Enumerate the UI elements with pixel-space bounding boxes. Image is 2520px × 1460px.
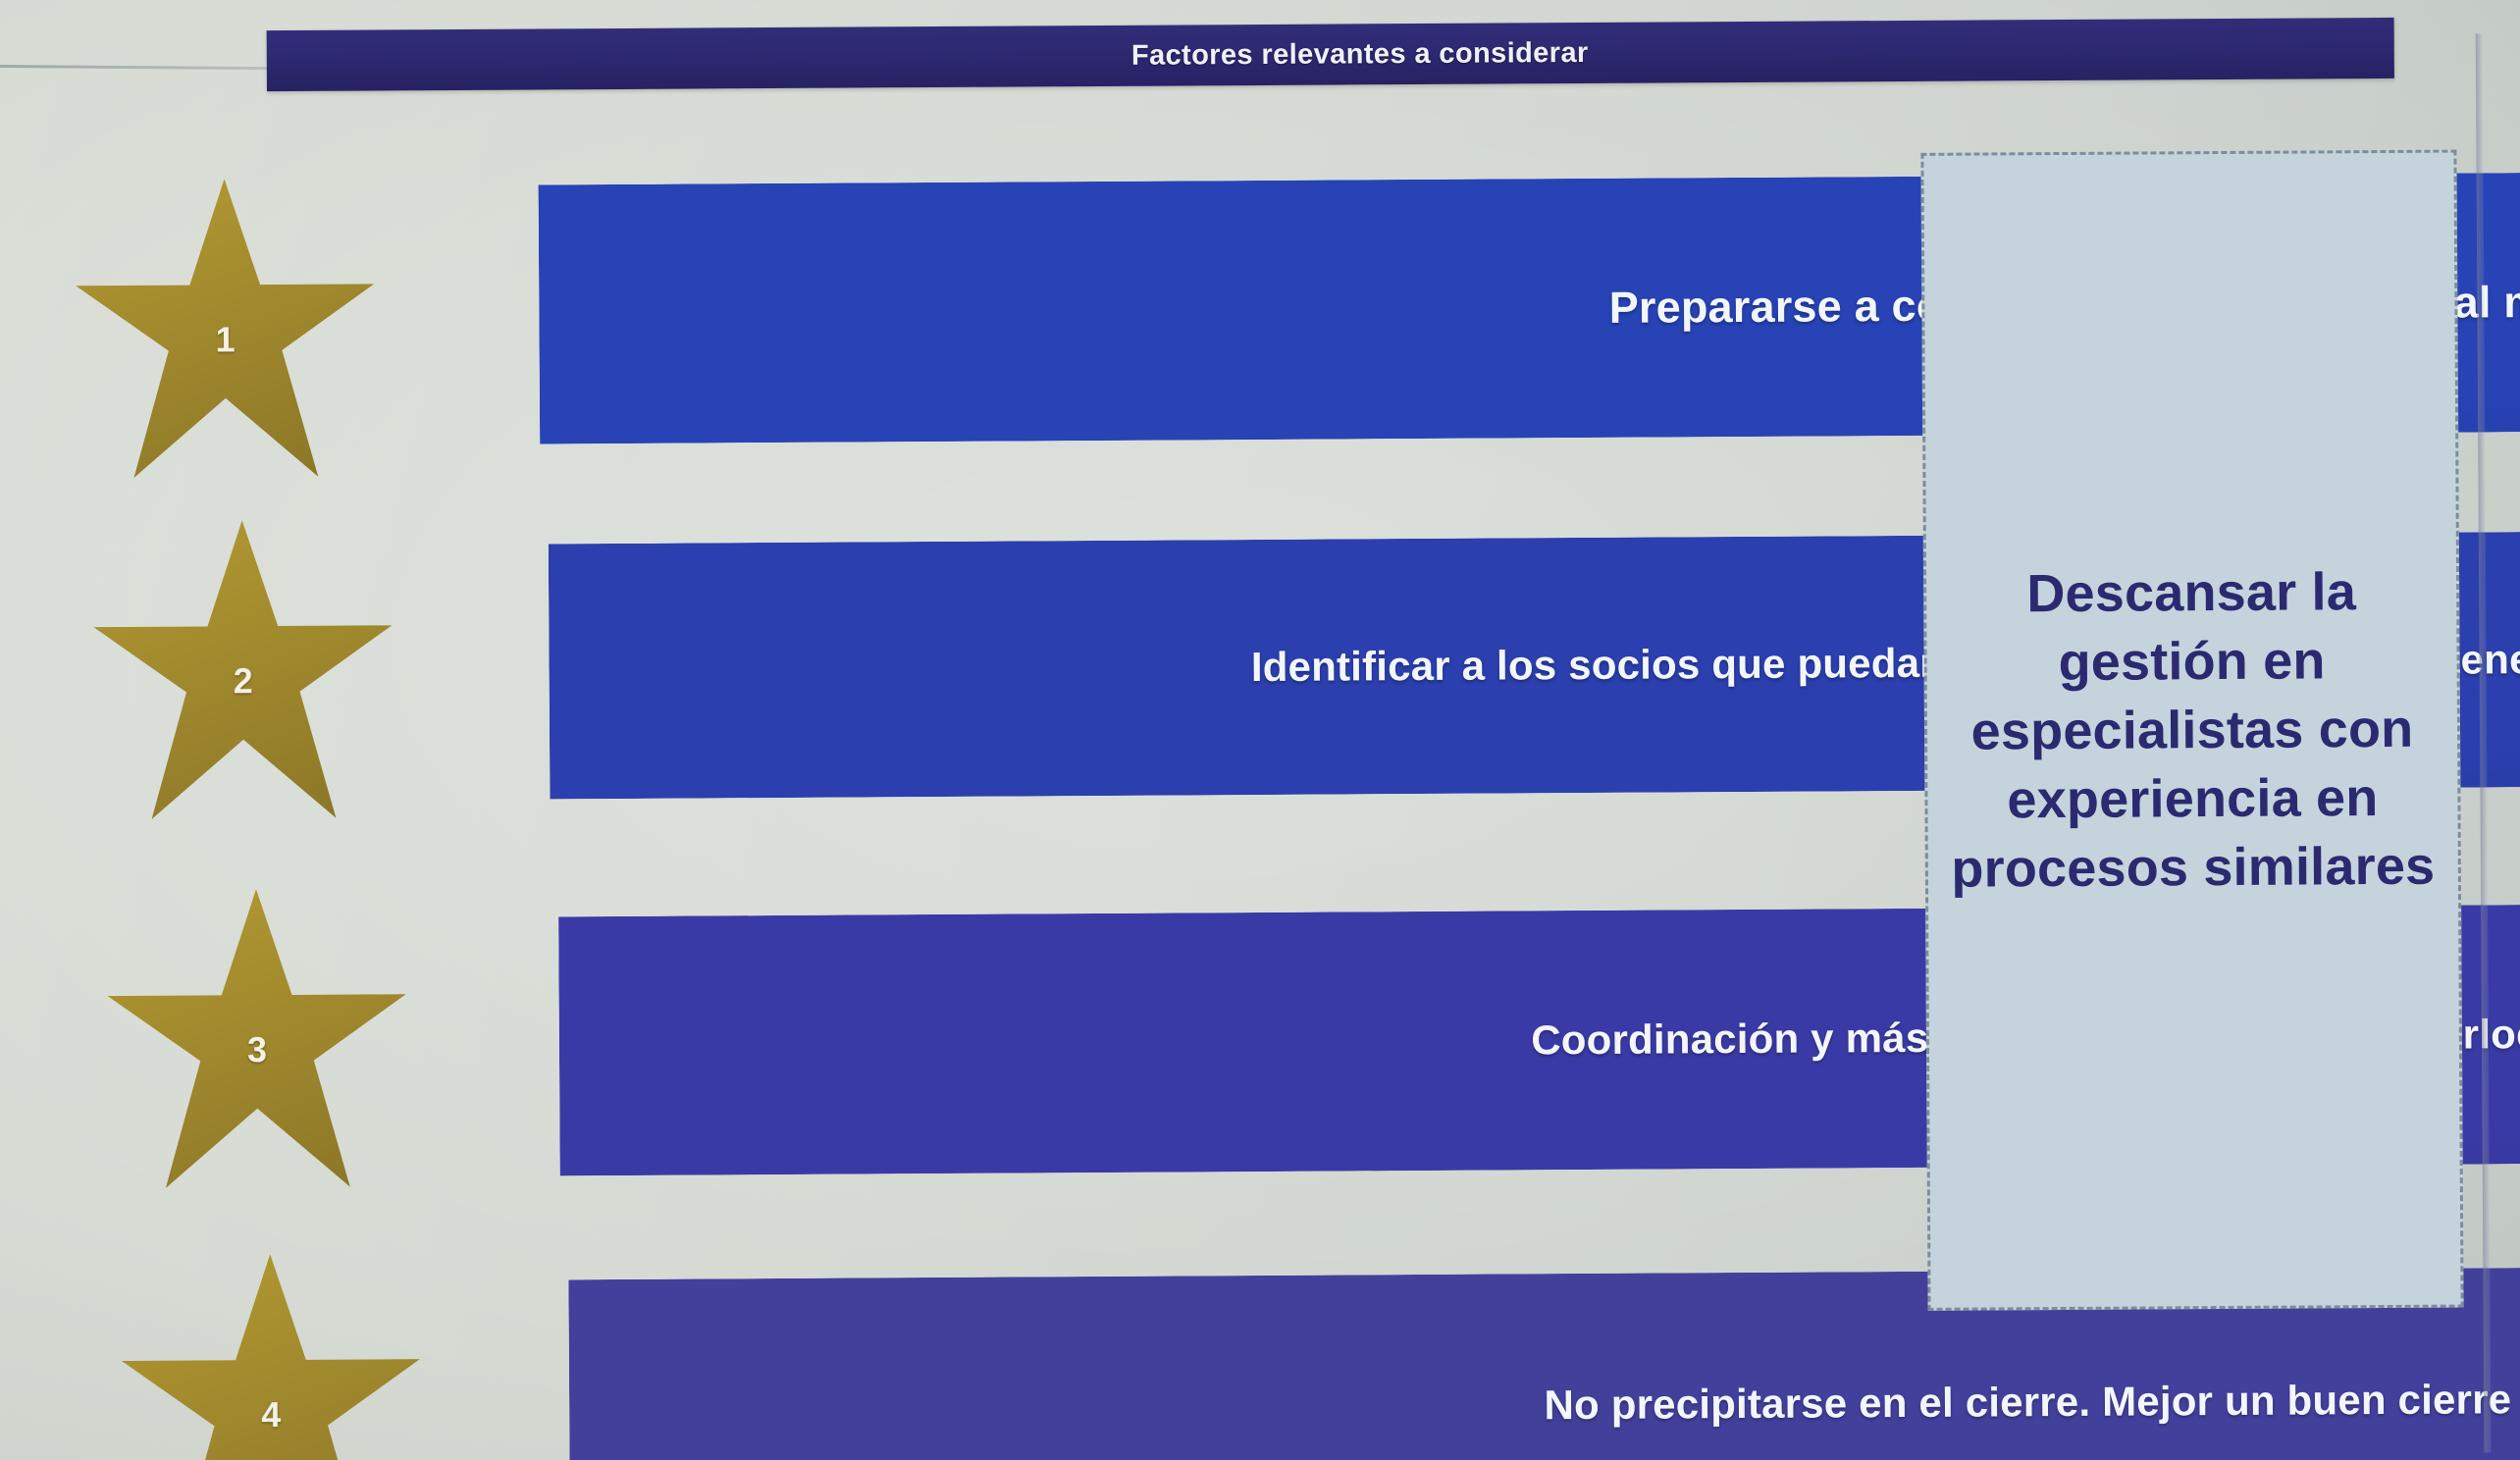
star-number-3: 3 xyxy=(247,1029,267,1070)
star-number-4: 4 xyxy=(261,1394,281,1435)
side-note-panel: Descansar la gestión en especialistas co… xyxy=(1920,150,2463,1311)
star-number-2: 2 xyxy=(234,660,253,702)
star-badge-1: 1 xyxy=(76,179,376,479)
factor-text-4: No precipitarse en el cierre. Mejor un b… xyxy=(1510,1373,2520,1430)
slide-content: Factores relevantes a considerar Prepara… xyxy=(0,0,2520,1460)
photographed-slide-backdrop: Factores relevantes a considerar Prepara… xyxy=(0,0,2520,1460)
factors-list: Prepararse a conciencia antes de “salir … xyxy=(0,0,2515,8)
star-number-1: 1 xyxy=(215,319,235,360)
side-note-text: Descansar la gestión en especialistas co… xyxy=(1940,556,2444,904)
star-badge-3: 3 xyxy=(107,888,407,1188)
page-title: Factores relevantes a considerar xyxy=(1131,36,1589,72)
slide-title-bar: Factores relevantes a considerar xyxy=(267,18,2394,91)
star-badge-2: 2 xyxy=(93,519,394,819)
star-badge-4: 4 xyxy=(121,1253,421,1460)
